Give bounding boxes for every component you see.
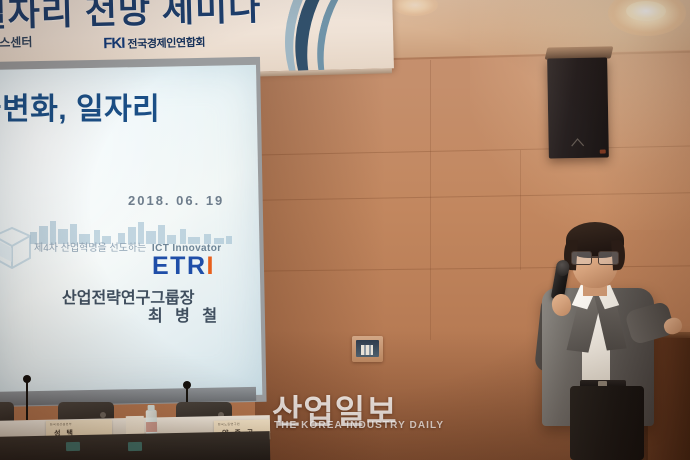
table-microphone-head bbox=[183, 381, 191, 389]
photograph-scene: 일자리 전망 세미나 퍼런스센터 FKI 전국경제인연합회 술변화, 일자리 2… bbox=[0, 0, 690, 460]
chair-knob bbox=[100, 412, 106, 418]
slide-date: 2018. 06. 19 bbox=[128, 193, 224, 208]
speaker-led-icon bbox=[600, 150, 606, 154]
etri-logo-blue: ETR bbox=[152, 252, 207, 280]
glasses-lens-left bbox=[571, 251, 592, 265]
fki-logo: FKI 전국경제인연합회 bbox=[103, 33, 205, 52]
speaker-brand-logo-icon bbox=[571, 138, 585, 147]
fki-organizer-name: 전국경제인연합회 bbox=[127, 33, 205, 51]
wall-speaker-icon bbox=[547, 57, 609, 158]
banner-subtitle: 퍼런스센터 bbox=[0, 33, 33, 51]
watermark: 산업일보 THE KOREA INDUSTRY DAILY bbox=[272, 385, 440, 433]
placard-org: 한국노동연구원 bbox=[218, 422, 240, 426]
banner-title: 일자리 전망 세미나 bbox=[0, 0, 295, 37]
fki-mark: FKI bbox=[103, 35, 125, 53]
table-item bbox=[128, 442, 142, 451]
wall-panel-joint bbox=[430, 60, 431, 340]
av-panel-face bbox=[356, 340, 379, 357]
etri-logo: ETRI bbox=[152, 252, 215, 281]
etri-logo-orange: I bbox=[207, 252, 215, 280]
bottle-label bbox=[146, 422, 157, 432]
slide-tagline-ko: 제4차 산업혁명을 선도하는 bbox=[34, 243, 146, 254]
glasses-icon bbox=[570, 251, 620, 263]
table-microphone-head bbox=[23, 375, 31, 383]
table-microphone-icon bbox=[26, 380, 28, 420]
panel-table: 한국생산성본부 성 택 한국노동연구원 양 종 곤 bbox=[0, 396, 270, 460]
speaker-person bbox=[520, 222, 690, 460]
placard-org: 한국생산성본부 bbox=[50, 422, 72, 426]
watermark-english: THE KOREA INDUSTRY DAILY bbox=[274, 420, 444, 431]
trousers bbox=[570, 386, 644, 460]
etri-cube-icon bbox=[0, 222, 38, 274]
glasses-lens-right bbox=[598, 251, 619, 265]
table-item bbox=[66, 442, 80, 451]
bottle-cap bbox=[148, 405, 155, 411]
slide-speaker-name: 최 병 철 bbox=[148, 302, 221, 326]
av-control-panel[interactable] bbox=[352, 336, 383, 362]
slide-headline: 술변화, 일자리 bbox=[0, 84, 160, 128]
microphone-grille bbox=[555, 259, 571, 277]
